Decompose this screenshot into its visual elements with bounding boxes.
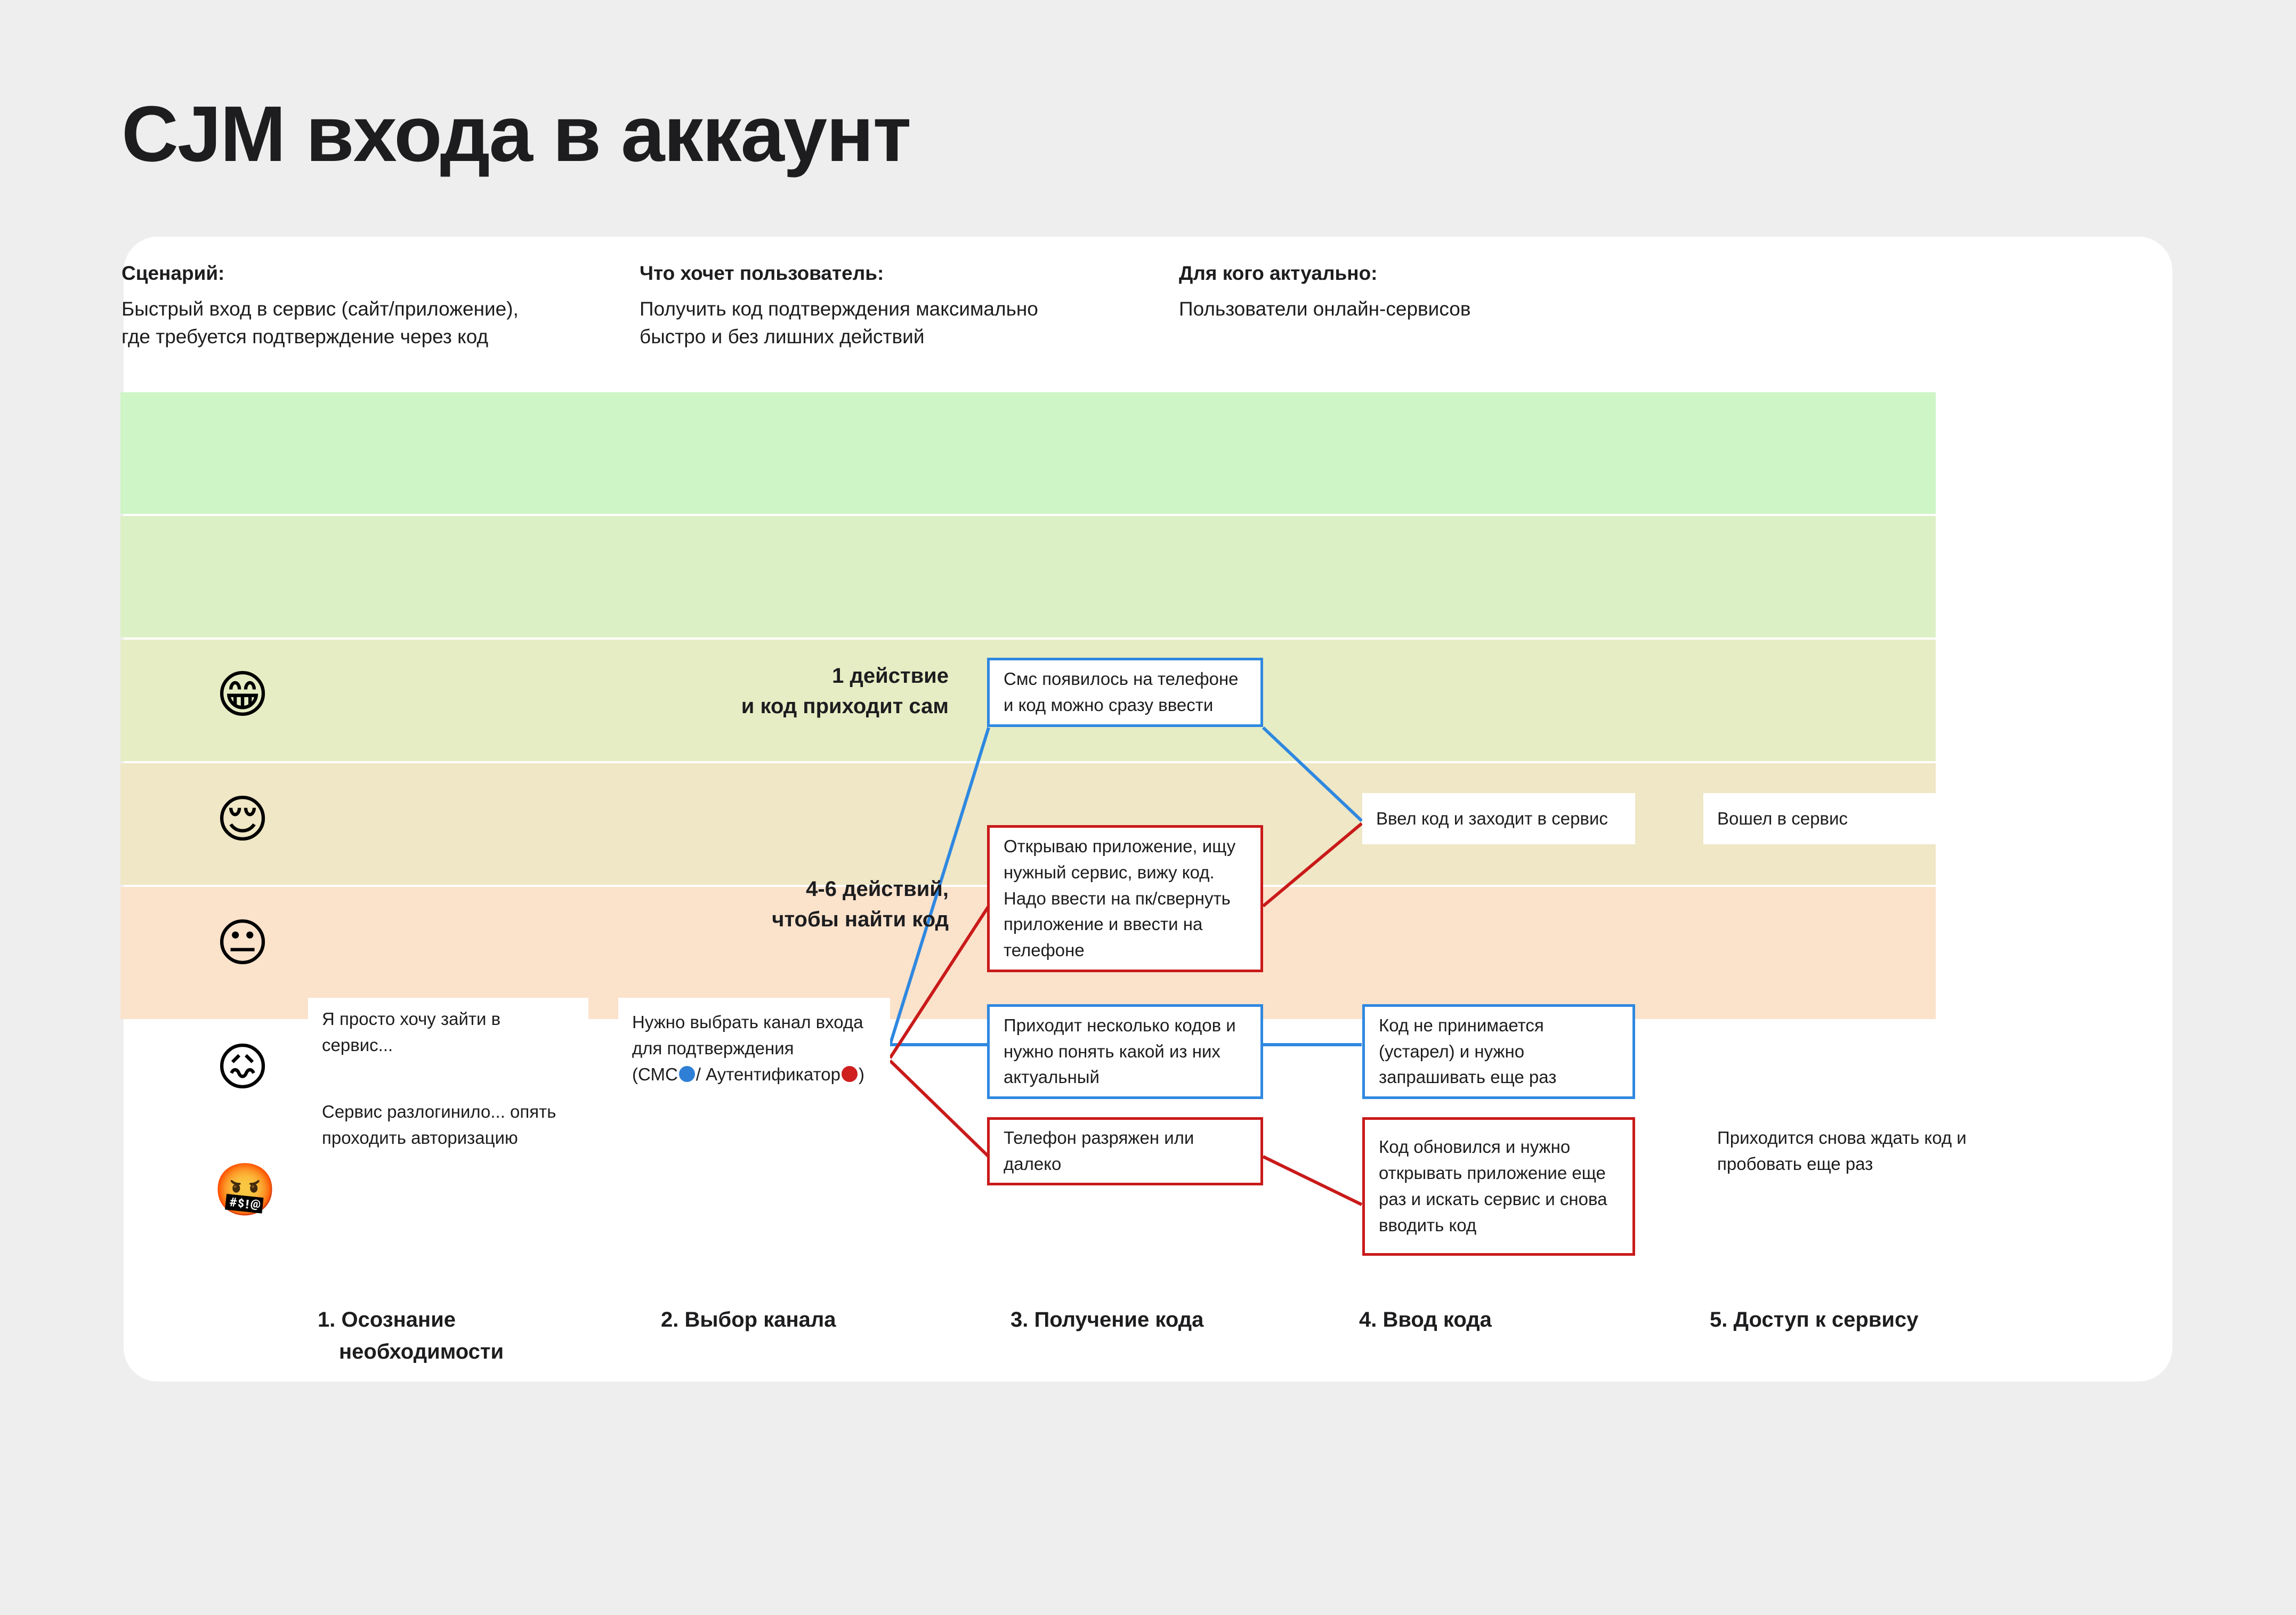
note-channel-separator: / Аутентификатор bbox=[696, 1064, 840, 1084]
stage-label-5: 5. Доступ к сервису bbox=[1710, 1304, 1918, 1336]
note-wait-again[interactable]: Приходится снова ждать код и пробовать е… bbox=[1703, 1117, 1989, 1185]
annotation-line-2: и код приходит сам bbox=[618, 691, 949, 722]
meta-block-scenario: Сценарий: Быстрый вход в сервис (сайт/пр… bbox=[122, 260, 654, 351]
meta-line-1: Пользователи онлайн-сервисов bbox=[1179, 295, 1605, 324]
stage-label-3: 3. Получение кода bbox=[1010, 1304, 1203, 1336]
note-choose-channel-text: Нужно выбрать канал входа для подтвержде… bbox=[632, 1012, 863, 1058]
emotion-band-happy bbox=[120, 516, 1936, 637]
note-phone-dead[interactable]: Телефон разряжен или далеко bbox=[987, 1117, 1263, 1185]
cjm-poster: CJM входа в аккаунт Сценарий: Быстрый вх… bbox=[0, 0, 2296, 1615]
meta-line-1: Получить код подтверждения максимально bbox=[640, 295, 1151, 324]
page-title: CJM входа в аккаунт bbox=[122, 95, 910, 174]
annotation-line-1: 1 действие bbox=[618, 661, 949, 691]
note-open-app[interactable]: Открываю приложение, ищу нужный сервис, … bbox=[987, 825, 1263, 972]
stage-label-1: 1. Осознание необходимости bbox=[318, 1304, 504, 1368]
stage-label-2: 2. Выбор канала bbox=[661, 1304, 836, 1336]
stage-label-line-1: 1. Осознание bbox=[318, 1308, 456, 1331]
annotation-line-2: чтобы найти код bbox=[618, 905, 949, 935]
annotation-four-six-actions: 4-6 действий, чтобы найти код bbox=[618, 874, 949, 935]
note-just-want-in[interactable]: Я просто хочу зайти в сервис... bbox=[308, 998, 588, 1067]
meta-block-user-goal: Что хочет пользователь: Получить код под… bbox=[640, 260, 1151, 351]
neutral-face-icon: 😐 bbox=[213, 918, 272, 969]
authenticator-channel-dot-icon bbox=[842, 1066, 858, 1082]
stage-label-line-2: необходимости bbox=[318, 1336, 504, 1368]
annotation-one-action: 1 действие и код приходит сам bbox=[618, 661, 949, 722]
note-channel-close-paren: ) bbox=[859, 1064, 864, 1084]
stage-label-4: 4. Ввод кода bbox=[1359, 1304, 1492, 1336]
stage-label-line-1: 5. Доступ к сервису bbox=[1710, 1308, 1918, 1331]
meta-heading: Сценарий: bbox=[122, 260, 654, 287]
note-code-rejected[interactable]: Код не принимается (устарел) и нужно зап… bbox=[1362, 1004, 1635, 1099]
note-code-refreshed[interactable]: Код обновился и нужно открывать приложен… bbox=[1362, 1117, 1635, 1256]
meta-line-2: где требуется подтверждение через код bbox=[122, 323, 654, 351]
note-logged-out[interactable]: Сервис разлогинило... опять проходить ав… bbox=[308, 1091, 588, 1160]
meta-heading: Что хочет пользователь: bbox=[640, 260, 1151, 287]
cursing-face-icon: 🤬 bbox=[213, 1165, 272, 1216]
note-choose-channel[interactable]: Нужно выбрать канал входа для подтвержде… bbox=[618, 998, 890, 1089]
stage-label-line-1: 3. Получение кода bbox=[1010, 1308, 1203, 1331]
note-sms-arrived[interactable]: Смс появилось на телефоне и код можно ср… bbox=[987, 658, 1263, 727]
annotation-line-1: 4-6 действий, bbox=[618, 874, 949, 905]
meta-line-1: Быстрый вход в сервис (сайт/приложение), bbox=[122, 295, 654, 324]
note-entered-code[interactable]: Ввел код и заходит в сервис bbox=[1362, 793, 1635, 844]
meta-heading: Для кого актуально: bbox=[1179, 260, 1605, 287]
sms-channel-dot-icon bbox=[679, 1066, 695, 1082]
stage-label-line-1: 2. Выбор канала bbox=[661, 1308, 836, 1331]
relieved-face-icon: 😌 bbox=[213, 794, 272, 845]
note-many-codes[interactable]: Приходит несколько кодов и нужно понять … bbox=[987, 1004, 1263, 1099]
note-logged-in[interactable]: Вошел в сервис bbox=[1703, 793, 1989, 844]
emotion-band-very-happy bbox=[120, 392, 1936, 514]
stage-label-line-1: 4. Ввод кода bbox=[1359, 1308, 1492, 1331]
confounded-face-icon: 😖 bbox=[213, 1042, 272, 1093]
meta-line-2: быстро и без лишних действий bbox=[640, 323, 1151, 351]
grinning-face-icon: 😁 bbox=[213, 669, 272, 721]
meta-block-audience: Для кого актуально: Пользователи онлайн-… bbox=[1179, 260, 1605, 323]
note-channel-open-paren: (СМС bbox=[632, 1064, 678, 1084]
